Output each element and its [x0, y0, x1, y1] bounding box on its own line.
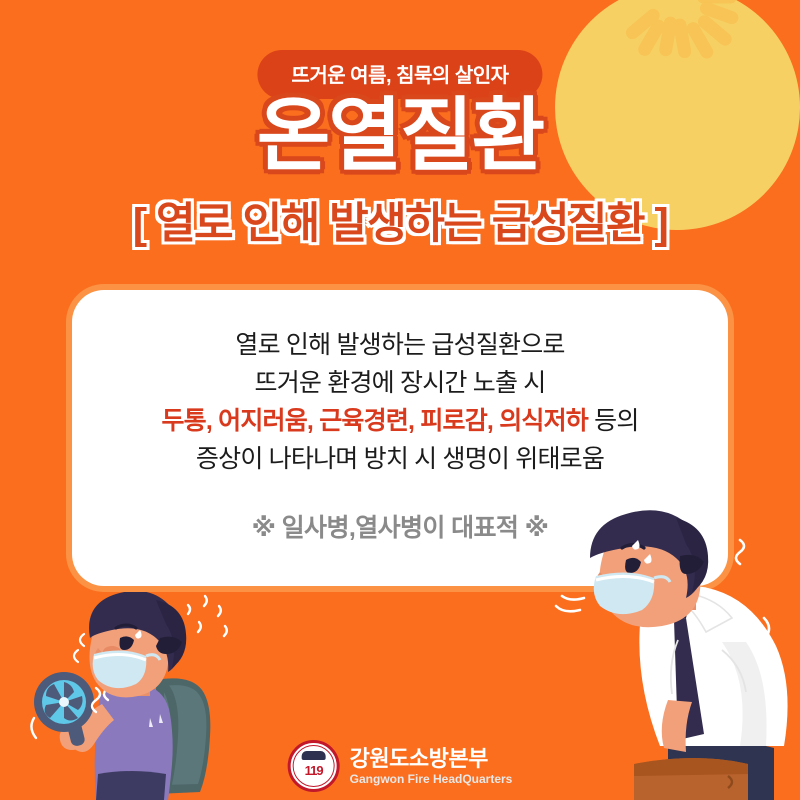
page-title: 온열질환	[0, 96, 800, 176]
footer-text: 강원도소방본부 Gangwon Fire HeadQuarters	[350, 748, 513, 785]
sun-ray	[684, 20, 715, 61]
emblem-figures	[302, 751, 326, 760]
sun-ray	[658, 16, 678, 58]
sun-ray	[623, 6, 662, 42]
sun-ray	[698, 0, 740, 26]
footer-logo: 119 강원도소방본부 Gangwon Fire HeadQuarters	[288, 740, 513, 792]
footer-name-ko: 강원도소방본부	[350, 748, 513, 770]
info-line-1: 열로 인해 발생하는 급성질환으로	[72, 326, 728, 364]
poster-root: 뜨거운 여름, 침묵의 살인자 온열질환 [ 열로 인해 발생하는 급성질환 ]…	[0, 0, 800, 800]
emblem-number: 119	[305, 763, 323, 778]
info-line-2: 뜨거운 환경에 장시간 노출 시	[72, 364, 728, 402]
symptoms-highlight: 두통, 어지러움, 근육경련, 피로감, 의식저하	[161, 407, 588, 435]
sun-ray	[672, 18, 692, 60]
info-card-body: 열로 인해 발생하는 급성질환으로 뜨거운 환경에 장시간 노출 시 두통, 어…	[72, 326, 728, 544]
info-line-3: 두통, 어지러움, 근육경련, 피로감, 의식저하 등의	[72, 402, 728, 440]
sun-ray	[695, 13, 734, 49]
sun-ray	[697, 0, 737, 4]
gangwon-fire-119-emblem-icon: 119	[288, 740, 340, 792]
footer-name-en: Gangwon Fire HeadQuarters	[350, 773, 513, 785]
info-line-4: 증상이 나타나며 방치 시 생명이 위태로움	[72, 440, 728, 478]
info-note: ※ 일사병,열사병이 대표적 ※	[72, 508, 728, 544]
page-subtitle: [ 열로 인해 발생하는 급성질환 ]	[0, 203, 800, 246]
info-line-3-suffix: 등의	[588, 407, 639, 435]
sun-ray	[636, 17, 667, 58]
info-card: 열로 인해 발생하는 급성질환으로 뜨거운 환경에 장시간 노출 시 두통, 어…	[72, 290, 728, 586]
woman-with-handheld-fan-illustration	[28, 592, 260, 800]
